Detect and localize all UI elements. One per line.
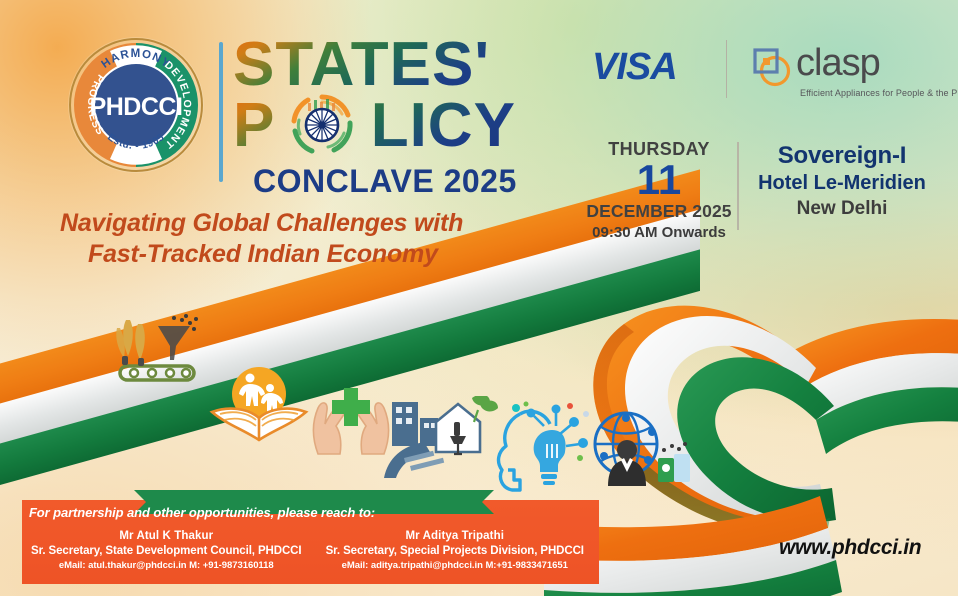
ashoka-chakra-icon	[290, 93, 354, 157]
title-line-policy: P	[233, 93, 533, 157]
date-venue-divider	[737, 142, 739, 230]
clasp-tagline: Efficient Appliances for People & the Pl…	[800, 88, 958, 98]
website-url[interactable]: www.phdcci.in	[779, 536, 921, 560]
infrastructure-smart-city-icon	[380, 396, 498, 482]
event-month-year: DECEMBER 2025	[585, 201, 733, 222]
contact-name: Mr Aditya Tripathi	[311, 530, 600, 542]
title-divider-rule	[219, 42, 223, 182]
contact-role: Sr. Secretary, State Development Council…	[22, 545, 311, 557]
clasp-logo-mark-icon	[750, 46, 794, 88]
title-policy-suffix: LICY	[371, 91, 516, 160]
event-venue-block: Sovereign-I Hotel Le-Meridien New Delhi	[742, 142, 942, 220]
tagline-line-2: Fast-Tracked Indian Economy	[88, 239, 530, 270]
contact-email-phone[interactable]: eMail: atul.thakur@phdcci.in M: +91-9873…	[22, 560, 311, 571]
title-line-conclave: CONCLAVE 2025	[253, 163, 533, 200]
event-tagline: Navigating Global Challenges with Fast-T…	[60, 208, 530, 269]
contact-role: Sr. Secretary, Special Projects Division…	[311, 545, 600, 557]
sponsor-logos: VISA clasp Efficient Appliances for Peop…	[592, 40, 942, 102]
footer-ribbon-text: For partnership and other opportunities,…	[22, 500, 382, 524]
agriculture-processing-icon	[104, 312, 204, 390]
venue-hall: Sovereign-I	[742, 142, 942, 170]
event-start-time: 09:30 AM Onwards	[585, 224, 733, 241]
contact-footer-panel: For partnership and other opportunities,…	[22, 500, 599, 584]
event-banner: PHDCCI HARMONY DEVELOPMENT PROGRESS Estd…	[0, 0, 958, 596]
sector-icons-row	[104, 312, 664, 482]
visa-logo: VISA	[592, 46, 677, 89]
contact-list: Mr Atul K Thakur Sr. Secretary, State De…	[22, 530, 599, 571]
contact-email-phone[interactable]: eMail: aditya.tripathi@phdcci.in M:+91-9…	[311, 560, 600, 571]
global-business-finance-icon	[584, 410, 694, 486]
phdcci-logo: PHDCCI HARMONY DEVELOPMENT PROGRESS Estd…	[66, 35, 206, 175]
title-block: STATES' P	[233, 36, 533, 200]
tagline-line-1: Navigating Global Challenges with	[60, 209, 463, 237]
logo-center-text: PHDCCI	[90, 93, 183, 121]
sponsor-divider	[726, 40, 727, 98]
venue-city: New Delhi	[742, 198, 942, 220]
contact-name: Mr Atul K Thakur	[22, 530, 311, 542]
venue-hotel: Hotel Le-Meridien	[742, 172, 942, 195]
title-line-states: STATES'	[233, 36, 533, 93]
education-book-icon	[206, 360, 312, 446]
contact-card: Mr Atul K Thakur Sr. Secretary, State De…	[22, 530, 311, 571]
clasp-logo-wordmark: clasp	[796, 42, 880, 85]
contact-card: Mr Aditya Tripathi Sr. Secretary, Specia…	[311, 530, 600, 571]
event-date-block: THURSDAY 11 DECEMBER 2025 09:30 AM Onwar…	[585, 139, 733, 241]
innovation-lightbulb-icon	[486, 400, 594, 494]
event-day-number: 11	[585, 159, 733, 200]
title-policy-prefix: P	[233, 91, 274, 160]
